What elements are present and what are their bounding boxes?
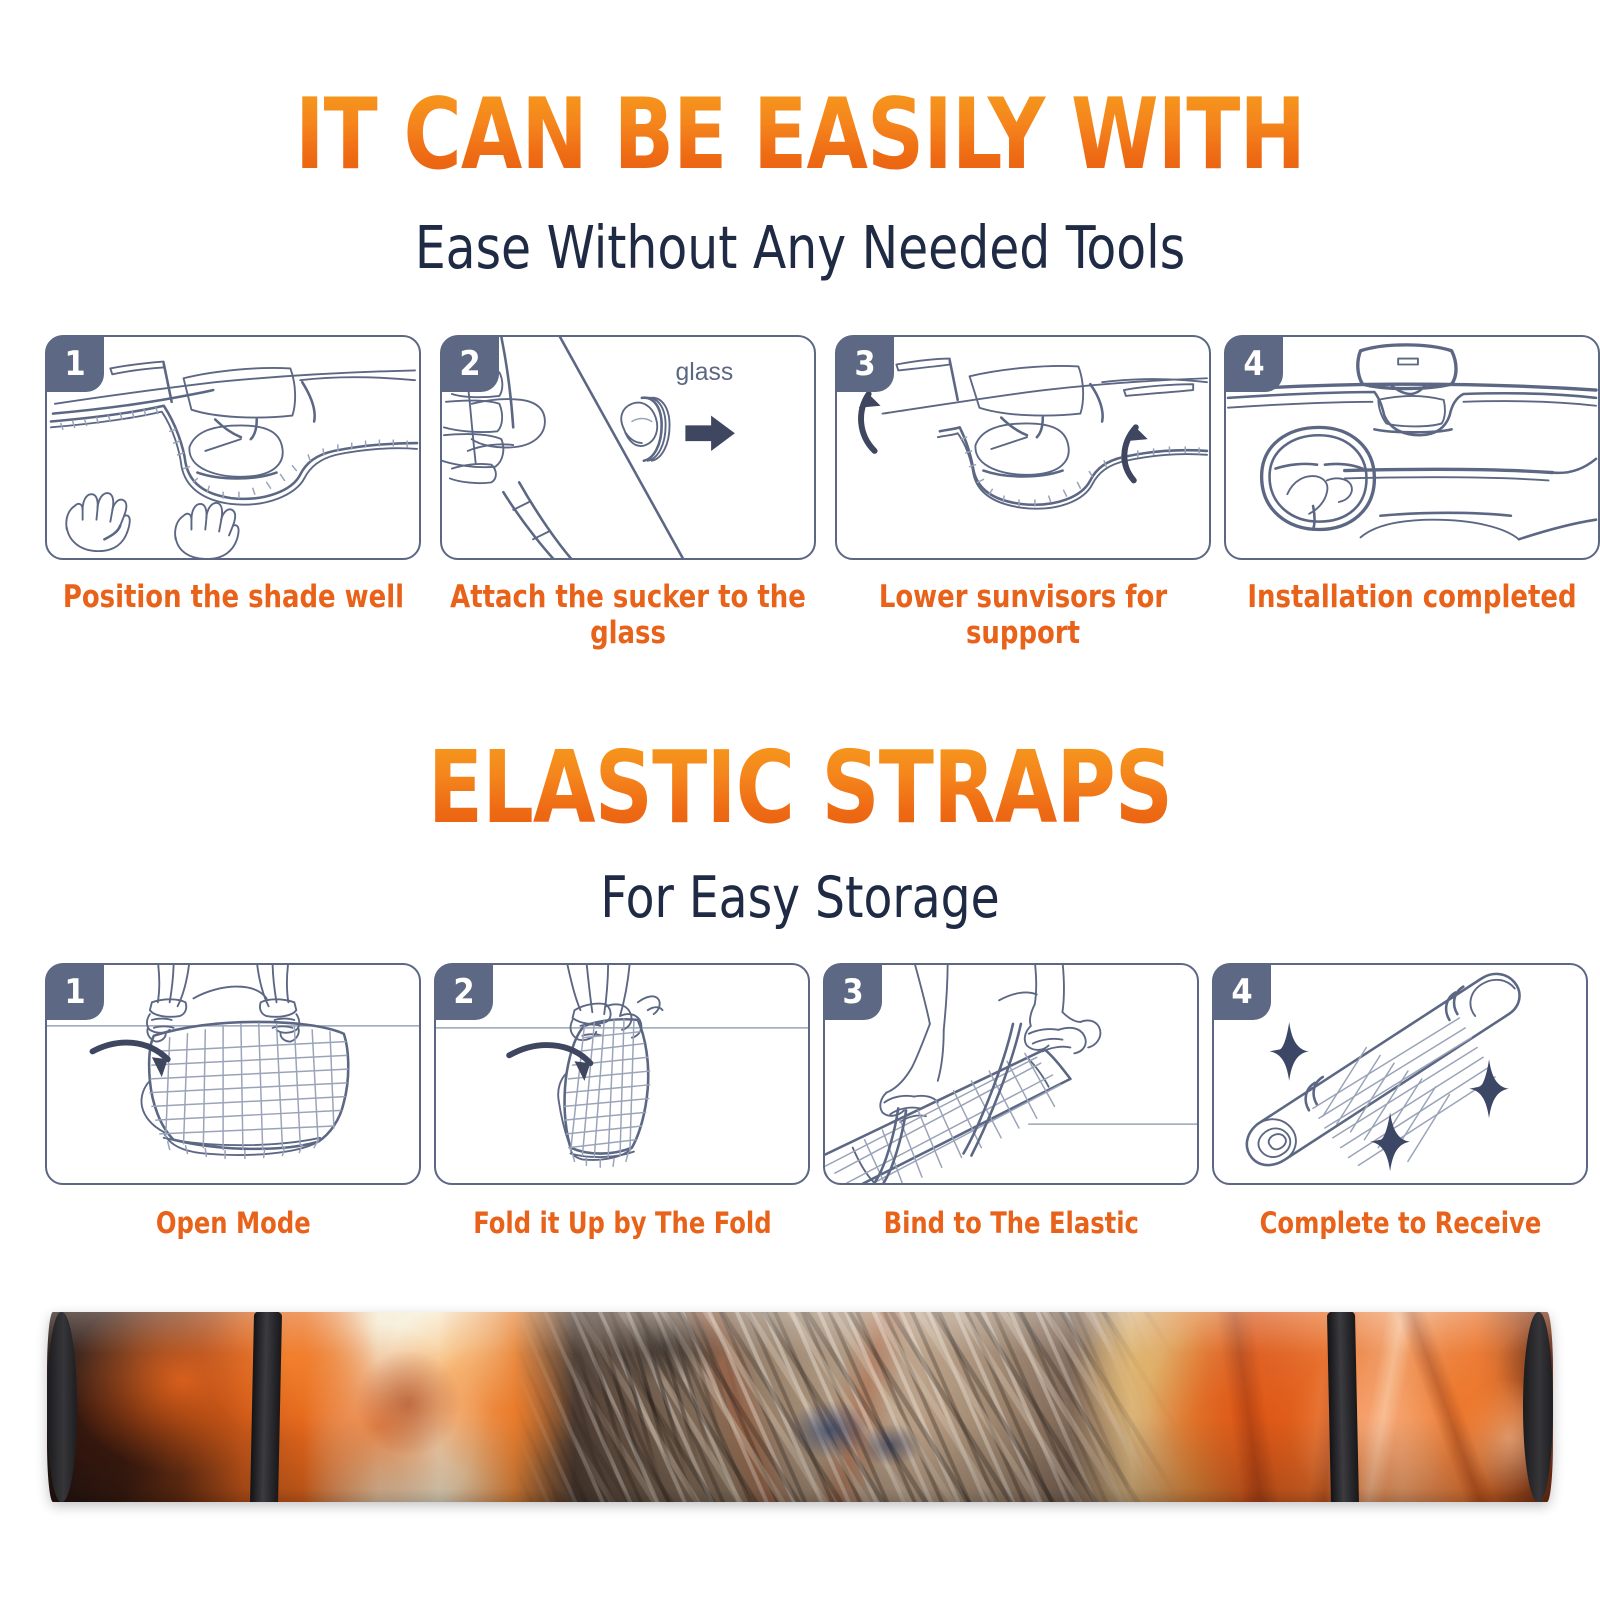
step-card-4: 4 Installation completed xyxy=(1224,335,1600,652)
step-3-illustration-card: 3 xyxy=(835,335,1211,560)
storage-4-illustration-card: 4 xyxy=(1212,963,1588,1185)
step-card-3: 3 Lower sunvisors for support xyxy=(835,335,1211,652)
step-3-caption: Lower sunvisors for support xyxy=(848,580,1198,652)
rolled-sunshade-body xyxy=(47,1312,1553,1502)
sparkle-star-icon xyxy=(1469,1059,1509,1118)
storage-card-3: 3 Bind to The Elastic xyxy=(823,963,1199,1241)
storage-2-illustration-card: 2 xyxy=(434,963,810,1185)
product-photo xyxy=(47,1312,1553,1508)
storage-3-number-badge: 3 xyxy=(824,964,882,1020)
step-card-2: glass 2 Attach the sucker to the glass xyxy=(434,335,822,652)
storage-card-4: 4 Complete to Receive xyxy=(1212,963,1588,1241)
glass-annotation-label: glass xyxy=(675,359,733,386)
storage-3-caption: Bind to The Elastic xyxy=(883,1207,1138,1241)
storage-2-caption: Fold it Up by The Fold xyxy=(473,1207,771,1241)
step-4-caption: Installation completed xyxy=(1247,580,1576,616)
elastic-strap-left xyxy=(250,1312,282,1502)
storage-3-illustration-card: 3 xyxy=(823,963,1199,1185)
elastic-strap-right xyxy=(1327,1312,1359,1502)
section-2-heading-block: ELASTIC STRAPS For Easy Storage xyxy=(0,738,1600,927)
end-cap-left xyxy=(47,1312,77,1502)
installation-steps-row: 1 Position the shade well xyxy=(0,335,1600,652)
section-2-heading-main: ELASTIC STRAPS xyxy=(80,738,1520,838)
storage-card-1: 1 Open Mode xyxy=(45,963,421,1241)
section-1-heading-main: IT CAN BE EASILY WITH xyxy=(80,86,1520,184)
section-1-heading-block: IT CAN BE EASILY WITH Ease Without Any N… xyxy=(0,86,1600,277)
step-1-caption: Position the shade well xyxy=(62,580,403,616)
step-1-illustration-card: 1 xyxy=(45,335,421,560)
storage-steps-row: 1 Open Mode xyxy=(0,963,1600,1241)
storage-card-2: 2 Fold it Up by The Fold xyxy=(434,963,810,1241)
storage-4-caption: Complete to Receive xyxy=(1259,1207,1541,1241)
storage-1-caption: Open Mode xyxy=(156,1207,311,1241)
storage-1-number-badge: 1 xyxy=(46,964,104,1020)
storage-1-illustration-card: 1 xyxy=(45,963,421,1185)
step-3-number-badge: 3 xyxy=(836,336,894,392)
section-1-heading-sub: Ease Without Any Needed Tools xyxy=(64,218,1536,277)
step-2-number-badge: 2 xyxy=(441,336,499,392)
step-2-illustration-card: glass 2 xyxy=(440,335,816,560)
step-2-caption: Attach the sucker to the glass xyxy=(448,580,809,652)
sparkle-star-icon xyxy=(1269,1022,1309,1081)
step-4-number-badge: 4 xyxy=(1225,336,1283,392)
step-1-number-badge: 1 xyxy=(46,336,104,392)
storage-2-number-badge: 2 xyxy=(435,964,493,1020)
section-2-heading-sub: For Easy Storage xyxy=(64,870,1536,927)
storage-4-number-badge: 4 xyxy=(1213,964,1271,1020)
step-card-1: 1 Position the shade well xyxy=(45,335,421,652)
end-cap-right xyxy=(1523,1312,1553,1502)
step-4-illustration-card: 4 xyxy=(1224,335,1600,560)
